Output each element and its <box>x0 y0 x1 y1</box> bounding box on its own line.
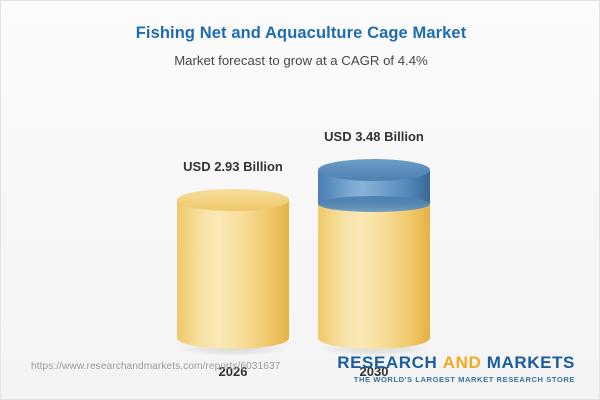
report-url[interactable]: https://www.researchandmarkets.com/repor… <box>31 361 280 372</box>
logo-word-research: RESEARCH <box>337 353 437 372</box>
bar-value-label-2030: USD 3.48 Billion <box>318 129 430 144</box>
cylinder-2026 <box>177 189 289 349</box>
logo-wordmark: RESEARCH AND MARKETS <box>337 353 575 373</box>
market-forecast-chart-card: Fishing Net and Aquaculture Cage Market … <box>0 0 600 400</box>
cylinder-2030 <box>318 159 430 349</box>
bar-value-label-2026: USD 2.93 Billion <box>177 159 289 174</box>
chart-footer: https://www.researchandmarkets.com/repor… <box>1 347 600 399</box>
logo-word-markets: MARKETS <box>487 353 575 372</box>
cylinder-segment-seam-2030 <box>318 196 430 212</box>
logo-word-and: AND <box>443 353 482 372</box>
cylinder-body-gold-2030 <box>318 200 430 349</box>
cylinder-top-ellipse-2026 <box>177 189 289 211</box>
research-and-markets-logo[interactable]: RESEARCH AND MARKETS THE WORLD'S LARGEST… <box>337 353 575 384</box>
cylinder-top-ellipse-2030 <box>318 159 430 181</box>
chart-plot-area: USD 2.93 Billion 2026 USD 3.48 Billion 2… <box>1 1 600 349</box>
bar-group-2026[interactable]: USD 2.93 Billion 2026 <box>177 189 289 349</box>
bar-group-2030[interactable]: USD 3.48 Billion 2030 <box>318 159 430 349</box>
logo-tagline: THE WORLD'S LARGEST MARKET RESEARCH STOR… <box>337 375 575 384</box>
cylinder-body-gold-2026 <box>177 200 289 349</box>
